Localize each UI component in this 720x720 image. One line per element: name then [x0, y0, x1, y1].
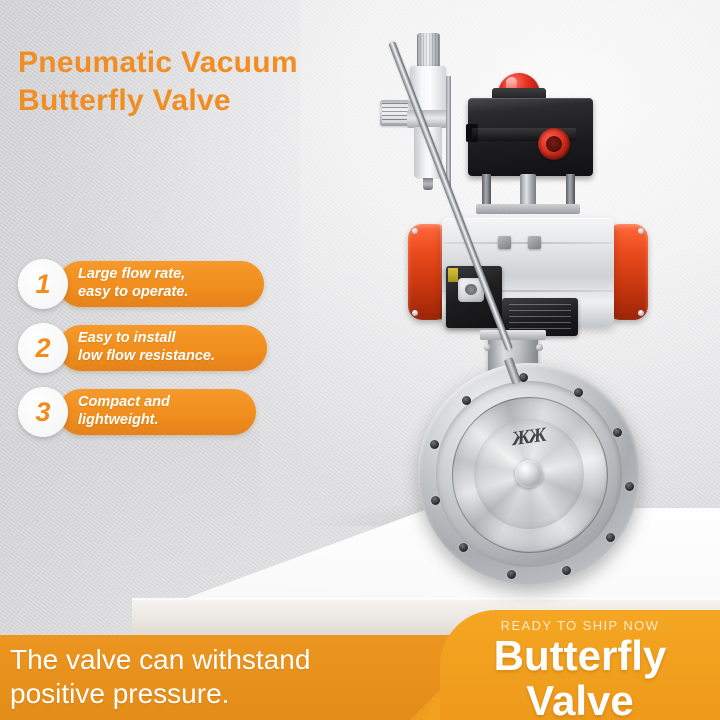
nameplate-engraving: [509, 304, 571, 330]
product-photo-valve-assembly: ЖЖ: [380, 28, 680, 578]
badge-text-1: Large flow rate, easy to operate.: [78, 266, 188, 301]
yoke-top-flange: [480, 330, 546, 340]
switch-box-mounting-bracket: [476, 204, 580, 214]
flange-bolt-hole: [430, 440, 439, 449]
feature-badge-3[interactable]: 3 Compact and lightweight.: [18, 386, 215, 438]
feature-badge-list: 1 Large flow rate, easy to operate. 2 Ea…: [18, 258, 215, 450]
switch-box-leg-left: [482, 174, 491, 204]
disc-center-hub: [515, 460, 543, 488]
solenoid-port-bore: [465, 284, 477, 295]
actuator-bolt-tr: [638, 228, 644, 234]
flange-bolt-hole: [613, 428, 622, 437]
badge-number-1: 1: [18, 259, 68, 309]
page-title: Pneumatic Vacuum Butterfly Valve: [18, 44, 388, 120]
badge-text-2: Easy to install low flow resistance.: [78, 330, 215, 365]
flange-bolt-hole: [574, 388, 583, 397]
actuator-bolt-bl: [412, 310, 418, 316]
flange-bolt-hole: [462, 396, 471, 405]
knob-knurling: [417, 33, 440, 69]
actuator-port-screw-b: [528, 236, 541, 249]
product-banner-stage: ЖЖ Pneumatic Vacuum Butterfly Valve 1 La…: [0, 0, 720, 720]
badge-text-3: Compact and lightweight.: [78, 394, 170, 429]
feature-badge-2[interactable]: 2 Easy to install low flow resistance.: [18, 322, 215, 374]
feature-badge-1[interactable]: 1 Large flow rate, easy to operate.: [18, 258, 215, 310]
flange-bolt-hole: [562, 566, 571, 575]
ready-to-ship-label: READY TO SHIP NOW: [440, 618, 720, 633]
badge-number-3: 3: [18, 387, 68, 437]
filter-drain: [423, 178, 433, 190]
yoke-bolt-left: [484, 344, 491, 351]
banner-tagline: The valve can withstand positive pressur…: [10, 643, 430, 710]
flange-bolt-hole: [625, 482, 634, 491]
flange-bolt-hole: [507, 570, 516, 579]
actuator-bolt-tl: [412, 228, 418, 234]
actuator-bolt-br: [638, 310, 644, 316]
conduit-port-bore: [546, 136, 562, 152]
flange-bolt-hole: [431, 496, 440, 505]
yoke-bolt-right: [536, 344, 543, 351]
solenoid-label-tag: [448, 268, 458, 282]
actuator-port-screw-a: [498, 236, 511, 249]
regulator-adjust-knob: [417, 33, 440, 69]
switch-box-coupling-stem: [520, 174, 536, 208]
badge-number-2: 2: [18, 323, 68, 373]
regulator-mid-collar: [407, 110, 451, 128]
flange-bolt-hole: [606, 533, 615, 542]
switch-box-leg-right: [566, 174, 575, 204]
flange-bolt-hole: [459, 543, 468, 552]
disc-brand-mark-icon: ЖЖ: [511, 424, 547, 451]
banner-product-name: Butterfly Valve: [440, 634, 720, 720]
